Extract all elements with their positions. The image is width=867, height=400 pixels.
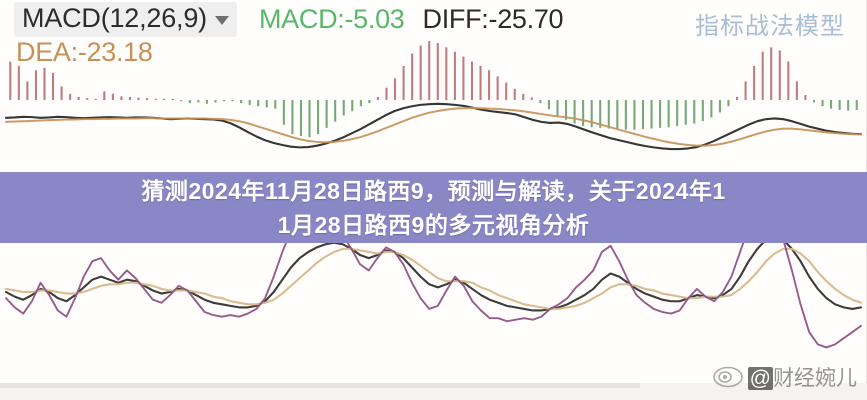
weibo-watermark: @财经婉儿 <box>713 362 857 392</box>
weibo-eye-icon <box>713 366 743 388</box>
macd-value: MACD:-5.03 <box>259 5 405 35</box>
article-title-overlay: 猜测2024年11月28日路西9，预测与解读，关于2024年1 1月28日路西9… <box>0 172 867 243</box>
article-title-line-2: 1月28日路西9的多元视角分析 <box>278 208 590 242</box>
macd-indicator-selector[interactable]: MACD(12,26,9) <box>14 2 237 37</box>
dea-value: DEA:-23.18 <box>16 38 153 68</box>
trading-chart-screenshot: MACD(12,26,9) MACD:-5.03 DIFF:-25.70 DEA… <box>0 0 867 400</box>
chevron-down-icon[interactable] <box>215 16 229 25</box>
macd-readout-row-bottom: DEA:-23.18 <box>16 38 153 68</box>
model-watermark-top: 指标战法模型 <box>695 6 845 41</box>
weibo-handle-text: 财经婉儿 <box>773 367 857 390</box>
diff-value: DIFF:-25.70 <box>423 5 564 35</box>
weibo-at-symbol: @ <box>748 367 773 390</box>
macd-indicator-label: MACD(12,26,9) <box>22 4 207 34</box>
weibo-handle: @财经婉儿 <box>748 362 857 392</box>
macd-readout-row-top: MACD(12,26,9) MACD:-5.03 DIFF:-25.70 <box>14 2 563 37</box>
bottom-strip-line <box>0 383 640 388</box>
article-title-line-1: 猜测2024年11月28日路西9，预测与解读，关于2024年1 <box>141 174 725 208</box>
